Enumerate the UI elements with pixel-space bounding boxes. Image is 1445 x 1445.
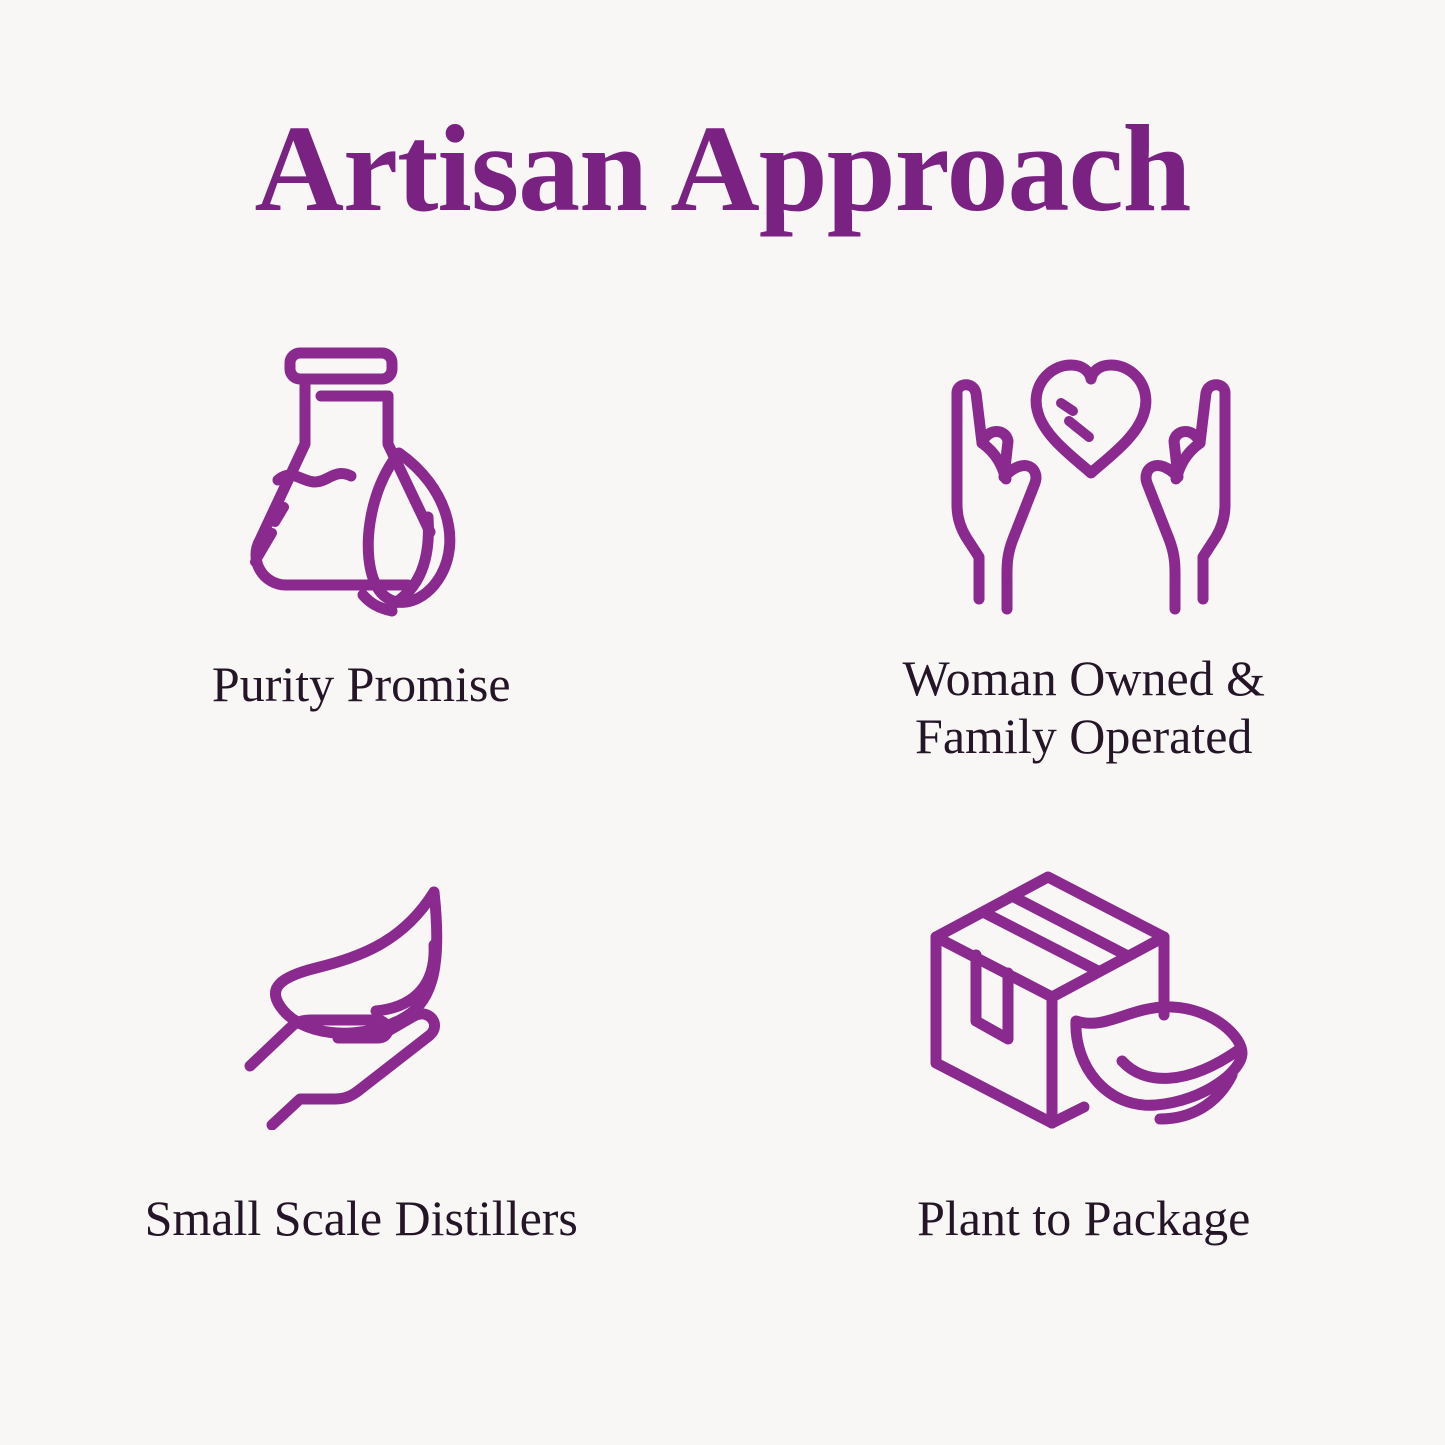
feature-item-woman-owned: Woman Owned & Family Operated bbox=[723, 330, 1445, 850]
feature-label-woman-owned: Woman Owned & Family Operated bbox=[902, 650, 1265, 765]
feature-label-plant-to-package: Plant to Package bbox=[917, 1190, 1250, 1248]
artisan-approach-graphic: Artisan Approach bbox=[0, 0, 1445, 1445]
page-title: Artisan Approach bbox=[0, 104, 1445, 234]
feature-label-line1: Purity Promise bbox=[212, 656, 511, 712]
feature-label-line2: Family Operated bbox=[902, 708, 1265, 766]
feature-label-purity-promise: Purity Promise bbox=[212, 656, 511, 714]
feature-label-line1: Plant to Package bbox=[917, 1190, 1250, 1246]
feature-item-plant-to-package: Plant to Package bbox=[723, 850, 1445, 1370]
flask-leaf-icon bbox=[220, 330, 502, 630]
feature-item-purity-promise: Purity Promise bbox=[0, 330, 723, 850]
feature-label-line1: Small Scale Distillers bbox=[145, 1190, 578, 1246]
feature-item-small-scale-distillers: Small Scale Distillers bbox=[0, 850, 723, 1370]
hands-holding-heart-icon bbox=[927, 330, 1241, 630]
package-box-leaf-icon bbox=[912, 850, 1256, 1150]
feature-grid: Purity Promise bbox=[0, 330, 1445, 1370]
feature-label-line1: Woman Owned & bbox=[902, 650, 1265, 706]
feature-label-small-scale-distillers: Small Scale Distillers bbox=[145, 1190, 578, 1248]
hand-holding-leaf-icon bbox=[226, 850, 496, 1150]
